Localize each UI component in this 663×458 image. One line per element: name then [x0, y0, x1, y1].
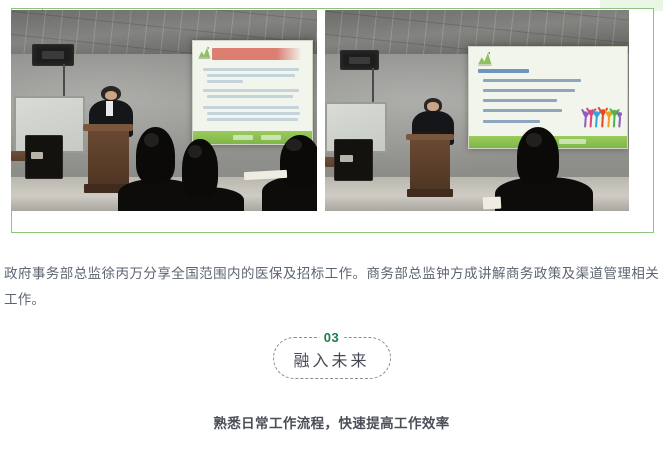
- section-tagline: 熟悉日常工作流程，快速提高工作效率: [0, 412, 663, 432]
- equipment-case: [334, 139, 372, 181]
- section-badge: 03 融入未来: [273, 337, 391, 379]
- wall-speaker-icon: [340, 50, 378, 70]
- equipment-case: [25, 135, 64, 179]
- podium-top: [83, 124, 133, 131]
- caption-paragraph: 政府事务部总监徐丙万分享全国范围内的医保及招标工作。商务部总监钟方成讲解商务政策…: [4, 261, 659, 313]
- podium: [410, 137, 450, 197]
- slide-bullet: [203, 89, 298, 92]
- podium: [88, 127, 129, 193]
- slide-bullet: [203, 68, 298, 71]
- presenter-shirt: [106, 101, 113, 115]
- slide-title-left: [212, 48, 303, 59]
- people-celebration-icon: [581, 93, 622, 131]
- slide-bullet: [207, 118, 298, 121]
- wall-speaker-icon: [32, 44, 74, 66]
- slide-bullet: [203, 106, 298, 109]
- hair-highlight: [188, 145, 202, 158]
- slide-bullet: [483, 109, 562, 112]
- slide-logo-icon: [475, 51, 496, 66]
- podium-top: [406, 134, 455, 140]
- hair-highlight: [144, 133, 159, 147]
- photo-right[interactable]: [325, 10, 629, 211]
- presenter-face: [427, 102, 439, 110]
- section-badge-wrapper: 03 融入未来: [0, 337, 663, 385]
- projection-screen-left: [192, 40, 313, 145]
- section-title: 融入未来: [274, 347, 390, 371]
- slide-bullet: [207, 74, 295, 77]
- slide-heading-right: [478, 69, 529, 73]
- slide-bullet: [483, 79, 581, 82]
- photo-left[interactable]: [11, 10, 317, 211]
- photo-row: [11, 10, 629, 211]
- hair-highlight: [286, 139, 301, 151]
- slide-bullet: [483, 99, 557, 102]
- slide-bullet: [483, 120, 540, 123]
- slide-bullet: [207, 80, 243, 83]
- slide-bullet: [207, 95, 293, 98]
- slide-logo-icon: [197, 45, 213, 60]
- slide-bullet: [207, 112, 300, 115]
- hair-highlight: [526, 133, 543, 147]
- section-number: 03: [319, 329, 344, 346]
- slide-bullet: [483, 89, 575, 92]
- desk-papers: [483, 196, 502, 209]
